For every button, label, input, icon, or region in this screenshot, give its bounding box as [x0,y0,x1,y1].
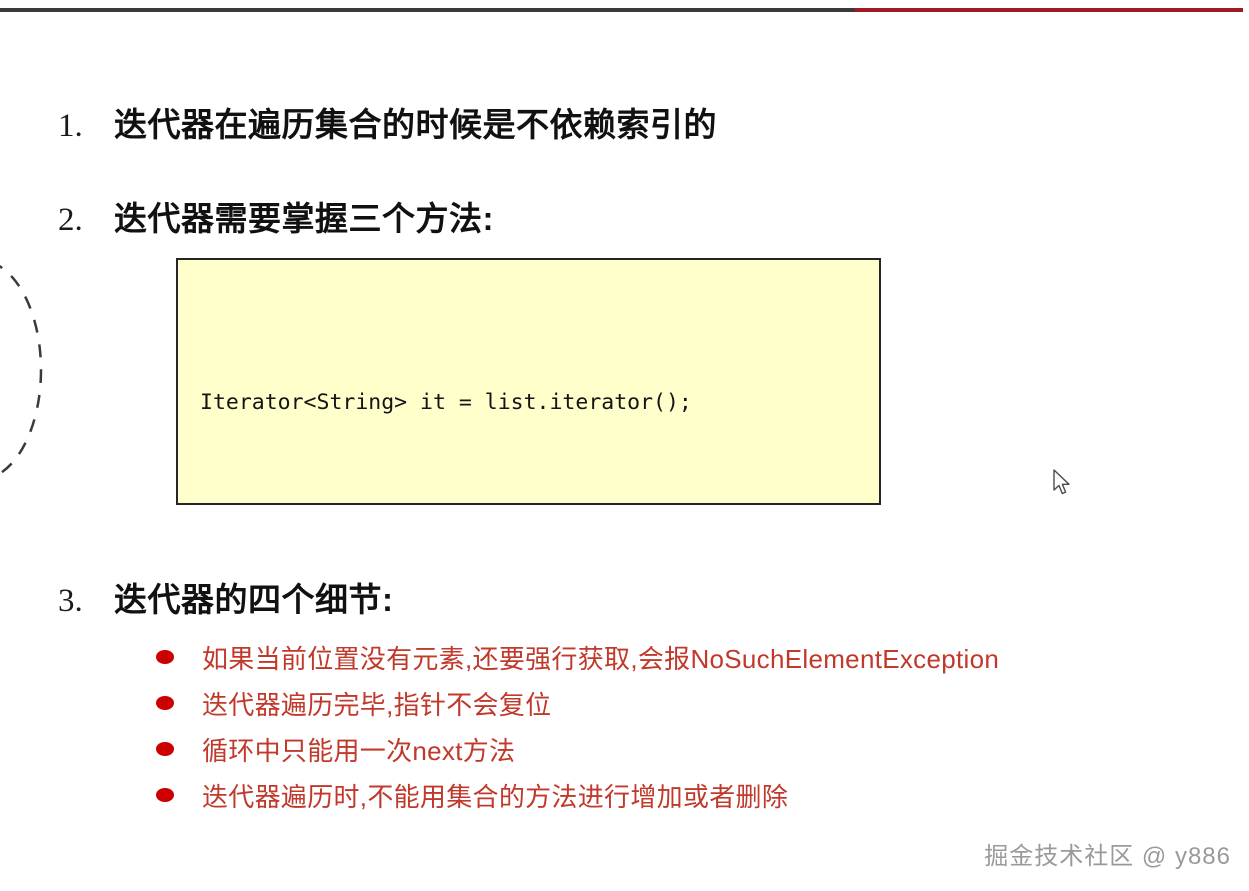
code-line-1-text: Iterator<String> it = list.iterator(); [200,390,692,415]
red-bullet-text-1: 如果当前位置没有元素,还要强行获取,会报NoSuchElementExcepti… [202,639,999,676]
mouse-cursor-icon [1053,469,1073,497]
dashed-ellipse-annotation [0,258,44,482]
numbered-item-2-number: 2. [58,202,114,239]
bullet-dot-icon [156,696,174,710]
list-item: 循环中只能用一次next方法 [156,726,999,772]
red-detail-list: 如果当前位置没有元素,还要强行获取,会报NoSuchElementExcepti… [156,634,999,818]
numbered-item-1: 1. 迭代器在遍历集合的时候是不依赖索引的 [58,98,717,146]
top-rule-red-segment [855,8,1243,12]
numbered-item-3-number: 3. [58,583,114,620]
list-item: 如果当前位置没有元素,还要强行获取,会报NoSuchElementExcepti… [156,634,999,680]
numbered-item-3-text: 迭代器的四个细节: [114,573,394,621]
red-bullet-text-4: 迭代器遍历时,不能用集合的方法进行增加或者删除 [202,777,788,814]
list-item: 迭代器遍历时,不能用集合的方法进行增加或者删除 [156,772,999,818]
numbered-item-3: 3. 迭代器的四个细节: [58,573,394,621]
red-bullet-text-3: 循环中只能用一次next方法 [202,731,515,768]
numbered-item-1-number: 1. [58,108,114,145]
list-item: 迭代器遍历完毕,指针不会复位 [156,680,999,726]
watermark-label: 掘金技术社区 @ y886 [984,836,1231,871]
bullet-dot-icon [156,742,174,756]
top-divider-rule [0,8,1249,12]
top-rule-dark-segment [0,8,855,12]
bullet-dot-icon [156,650,174,664]
numbered-item-1-text: 迭代器在遍历集合的时候是不依赖索引的 [114,98,717,146]
code-line-1: Iterator<String> it = list.iterator(); [200,378,879,427]
bullet-dot-icon [156,788,174,802]
java-code-block: Iterator<String> it = list.iterator(); w… [176,258,881,505]
red-bullet-text-2: 迭代器遍历完毕,指针不会复位 [202,685,551,722]
numbered-item-2-text: 迭代器需要掌握三个方法: [114,192,494,240]
numbered-item-2: 2. 迭代器需要掌握三个方法: [58,192,494,240]
